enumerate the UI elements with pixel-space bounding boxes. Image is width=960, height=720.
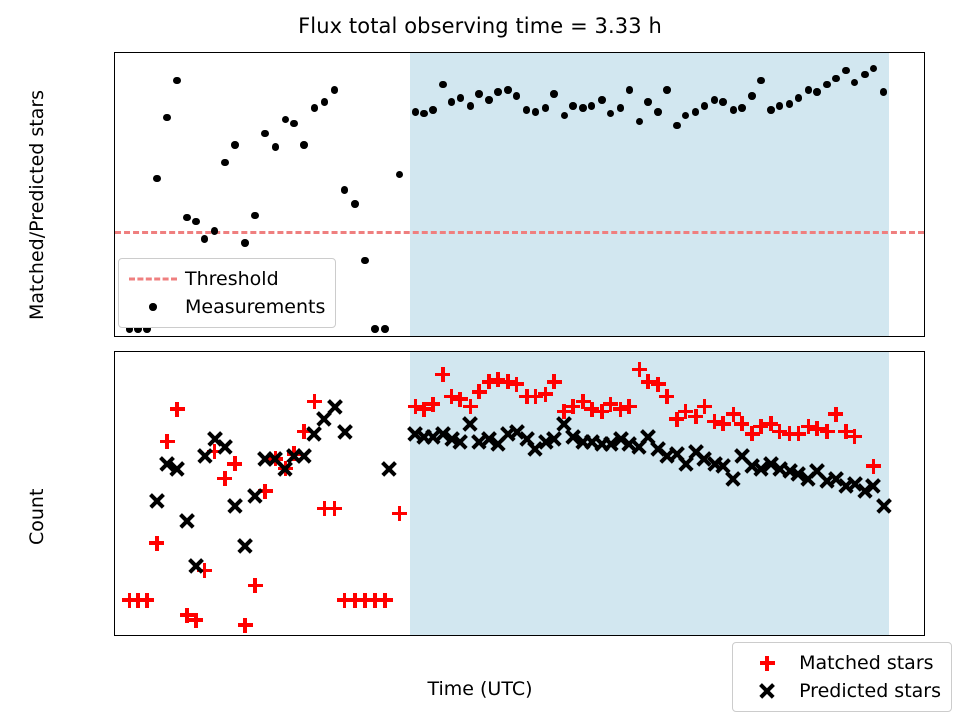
x-axis-tick [621,336,623,337]
black-dot-key-icon [127,295,179,319]
data-point-measurement [588,102,596,110]
data-point-measurement [663,86,671,94]
x-axis-tick [910,635,912,636]
data-point-measurement [598,96,606,104]
data-point-measurement [163,114,171,122]
data-point-measurement [738,104,746,112]
data-point-measurement [626,86,634,94]
data-point-measurement [371,325,379,333]
data-point-measurement [412,108,420,116]
data-point-measurement [221,159,229,167]
legend-bottom: Matched stars Predicted stars [732,642,952,712]
data-point-measurement [786,100,794,108]
data-point-measurement [321,98,329,106]
data-point-measurement [173,77,181,85]
data-point-measurement [673,122,681,130]
x-axis-tick [765,336,767,337]
data-point-measurement [579,104,587,112]
good-data-span [410,352,890,635]
legend-label-threshold: Threshold [179,268,279,290]
y-axis-tick [114,441,115,443]
data-point-measurement [617,104,625,112]
legend-label-measurements: Measurements [179,296,325,318]
y-axis-tick [114,133,115,135]
data-point-measurement [550,90,558,98]
x-axis-tick [332,635,334,636]
y-axis-tick [114,182,115,184]
y-axis-tick [114,392,115,394]
data-point-measurement [805,86,813,94]
data-point-measurement [261,130,269,138]
data-point-measurement [351,200,359,208]
data-point-measurement [701,102,709,110]
data-point-measurement [644,98,652,106]
y-axis-tick [114,329,115,331]
data-point-measurement [767,106,775,114]
data-point-measurement [341,186,349,194]
y-axis-tick [114,84,115,86]
data-point-measurement [475,90,483,98]
x-axis-tick [187,635,189,636]
data-point-measurement [832,75,840,83]
data-point-measurement [823,81,831,89]
x-axis-tick [765,635,767,636]
legend-label-predicted-stars: Predicted stars [793,680,941,702]
data-point-measurement [300,141,308,149]
data-point-measurement [569,102,577,110]
data-point-measurement [813,88,821,96]
x-axis-tick [476,336,478,337]
legend-item-threshold: Threshold [127,265,325,293]
data-point-measurement [532,108,540,116]
legend-item-predicted-stars: Predicted stars [741,677,941,705]
data-point-measurement [795,94,803,102]
figure-canvas: Flux total observing time = 3.33 h 0.000… [0,0,960,720]
data-point-measurement [776,102,784,110]
y-axis-label-top: Matched/Predicted stars [26,90,48,320]
data-point-measurement [494,88,502,96]
y-axis-label-bottom: Count [26,489,48,545]
data-point-measurement [251,212,259,220]
x-axis-tick [332,336,334,337]
x-axis-tick [476,635,478,636]
x-axis-tick [910,336,912,337]
data-point-measurement [290,120,298,128]
y-axis-tick [114,590,115,592]
data-point-measurement [231,141,239,149]
y-axis-tick [114,231,115,233]
data-point-measurement [504,86,512,94]
data-point-measurement [711,96,719,104]
y-axis-tick [114,280,115,282]
data-point-measurement [748,92,756,100]
legend-label-matched-stars: Matched stars [793,652,933,674]
data-point-measurement [192,218,200,226]
plot-area-bottom [115,352,924,635]
data-point-measurement [429,106,437,114]
data-point-measurement [842,67,850,75]
y-axis-tick [114,491,115,493]
data-point-measurement [467,102,475,110]
data-point-measurement [654,108,662,116]
data-point-measurement [272,143,280,151]
data-point-measurement [523,106,531,114]
x-axis-tick [621,635,623,636]
data-point-measurement [331,86,339,94]
legend-item-matched-stars: Matched stars [741,649,941,677]
x-axis-tick [187,336,189,337]
red-plus-key-icon [741,651,793,675]
data-point-measurement [201,235,209,243]
data-point-measurement [282,116,290,124]
data-point-measurement [183,214,191,222]
data-point-measurement [448,98,456,106]
data-point-measurement [396,171,404,179]
legend-item-measurements: Measurements [127,293,325,321]
threshold-line [115,231,924,234]
data-point-measurement [153,175,161,183]
data-point-measurement [719,98,727,106]
data-point-measurement [485,96,493,104]
data-point-measurement [439,81,447,89]
data-point-measurement [457,94,465,102]
black-cross-key-icon [741,679,793,703]
data-point-measurement [861,71,869,79]
data-point-measurement [311,104,319,112]
legend-top: Threshold Measurements [118,258,336,328]
data-point-measurement [381,325,389,333]
data-point-measurement [361,257,369,265]
y-axis-tick [114,541,115,543]
dashed-line-key-icon [127,267,179,291]
axes-star-counts: 40608010012018:0019:0020:0021:0022:0023:… [114,351,925,636]
figure-title: Flux total observing time = 3.33 h [0,14,960,38]
data-point-measurement [692,108,700,116]
data-point-measurement [757,77,765,85]
data-point-measurement [730,106,738,114]
data-point-measurement [241,239,249,247]
data-point-measurement [542,104,550,112]
